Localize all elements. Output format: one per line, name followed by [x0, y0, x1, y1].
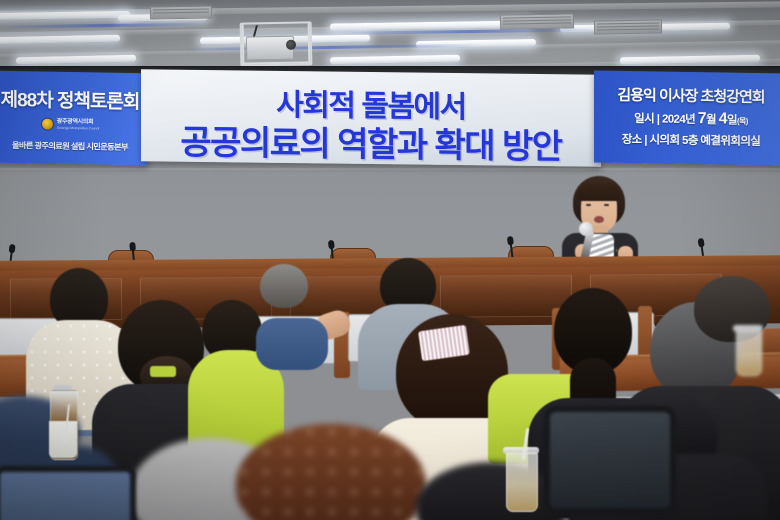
- speaker-eye: [586, 204, 591, 206]
- banner-left-subtitle: 올바른 광주의료원 설립 시민운동본부: [0, 139, 148, 154]
- microphone-head: [328, 240, 335, 250]
- projector-cage-bar: [242, 25, 245, 65]
- iced-drink-cup[interactable]: [506, 452, 536, 510]
- audience-chair-foreground: [0, 466, 136, 520]
- place-label: 장소 |: [622, 134, 647, 146]
- bottle-label-wrap: [49, 421, 77, 458]
- date-day-unit: 일: [727, 115, 737, 127]
- banner-center: 사회적 돌봄에서 공공의료의 역할과 확대 방안: [141, 69, 601, 167]
- air-vent: [500, 13, 574, 29]
- banner-right: 김용익 이사장 초청강연회 일시 | 2024년 7월 4일(목) 장소 | 시…: [594, 70, 780, 165]
- speaker-eye: [604, 204, 609, 206]
- audience-chair-foreground: [544, 406, 676, 514]
- banner-center-line2: 공공의료의 역할과 확대 방안: [141, 114, 601, 169]
- ceiling-light-reflection: [0, 23, 210, 29]
- council-seal-icon: [41, 117, 54, 130]
- ceiling-projector: [240, 21, 313, 66]
- banner-right-title: 김용익 이사장 초청강연회: [594, 83, 780, 107]
- projector-cage-bar: [242, 61, 310, 64]
- fluorescent-light-strip: [0, 35, 120, 44]
- banner-left: 제88차 정책토론회 광주광역시의회 Gwangju Metropolitan …: [0, 71, 148, 166]
- date-month: 7: [698, 110, 706, 127]
- cup-body: [506, 452, 538, 512]
- head: [260, 264, 308, 308]
- date-year: 2024년: [662, 114, 695, 127]
- handheld-microphone-head: [579, 222, 593, 236]
- banner-left-emblem: 광주광역시의회 Gwangju Metropolitan Council: [0, 117, 148, 133]
- speaker-hair-fringe: [577, 184, 621, 201]
- microphone-head: [698, 238, 705, 248]
- projector-lens: [286, 40, 296, 50]
- date-day: 4: [719, 110, 727, 127]
- air-vent: [150, 5, 212, 19]
- microphone-head: [507, 236, 514, 246]
- speaker-mouth: [594, 216, 604, 223]
- date-label: 일시 |: [634, 113, 659, 125]
- banner-right-date: 일시 | 2024년 7월 4일(목): [594, 108, 780, 129]
- cup-body: [736, 330, 762, 376]
- wall-seam: [0, 168, 780, 170]
- date-month-unit: 월: [706, 114, 716, 126]
- air-vent: [594, 19, 662, 34]
- iced-drink-cup[interactable]: [736, 330, 760, 374]
- conference-photo-scene: 제88차 정책토론회 광주광역시의회 Gwangju Metropolitan …: [0, 0, 780, 520]
- audience-member-blue-sleeve: [256, 318, 328, 370]
- banner-right-place: 장소 | 시의회 5층 예결위회의실: [594, 130, 780, 149]
- fluorescent-light-strip: [16, 55, 136, 65]
- fluorescent-light-strip: [330, 55, 460, 64]
- projector-cage-bar: [308, 23, 311, 63]
- banner-left-title: 제88차 정책토론회: [0, 85, 148, 115]
- date-weekday: (목): [737, 117, 748, 126]
- microphone-head: [129, 242, 136, 251]
- fluorescent-light-strip: [0, 11, 130, 20]
- coffee-bottle[interactable]: [50, 390, 76, 458]
- place-value: 시의회 5층 예결위회의실: [650, 134, 761, 148]
- hair-clip-green: [150, 366, 176, 377]
- emblem-subname: Gwangju Metropolitan Council: [57, 126, 99, 131]
